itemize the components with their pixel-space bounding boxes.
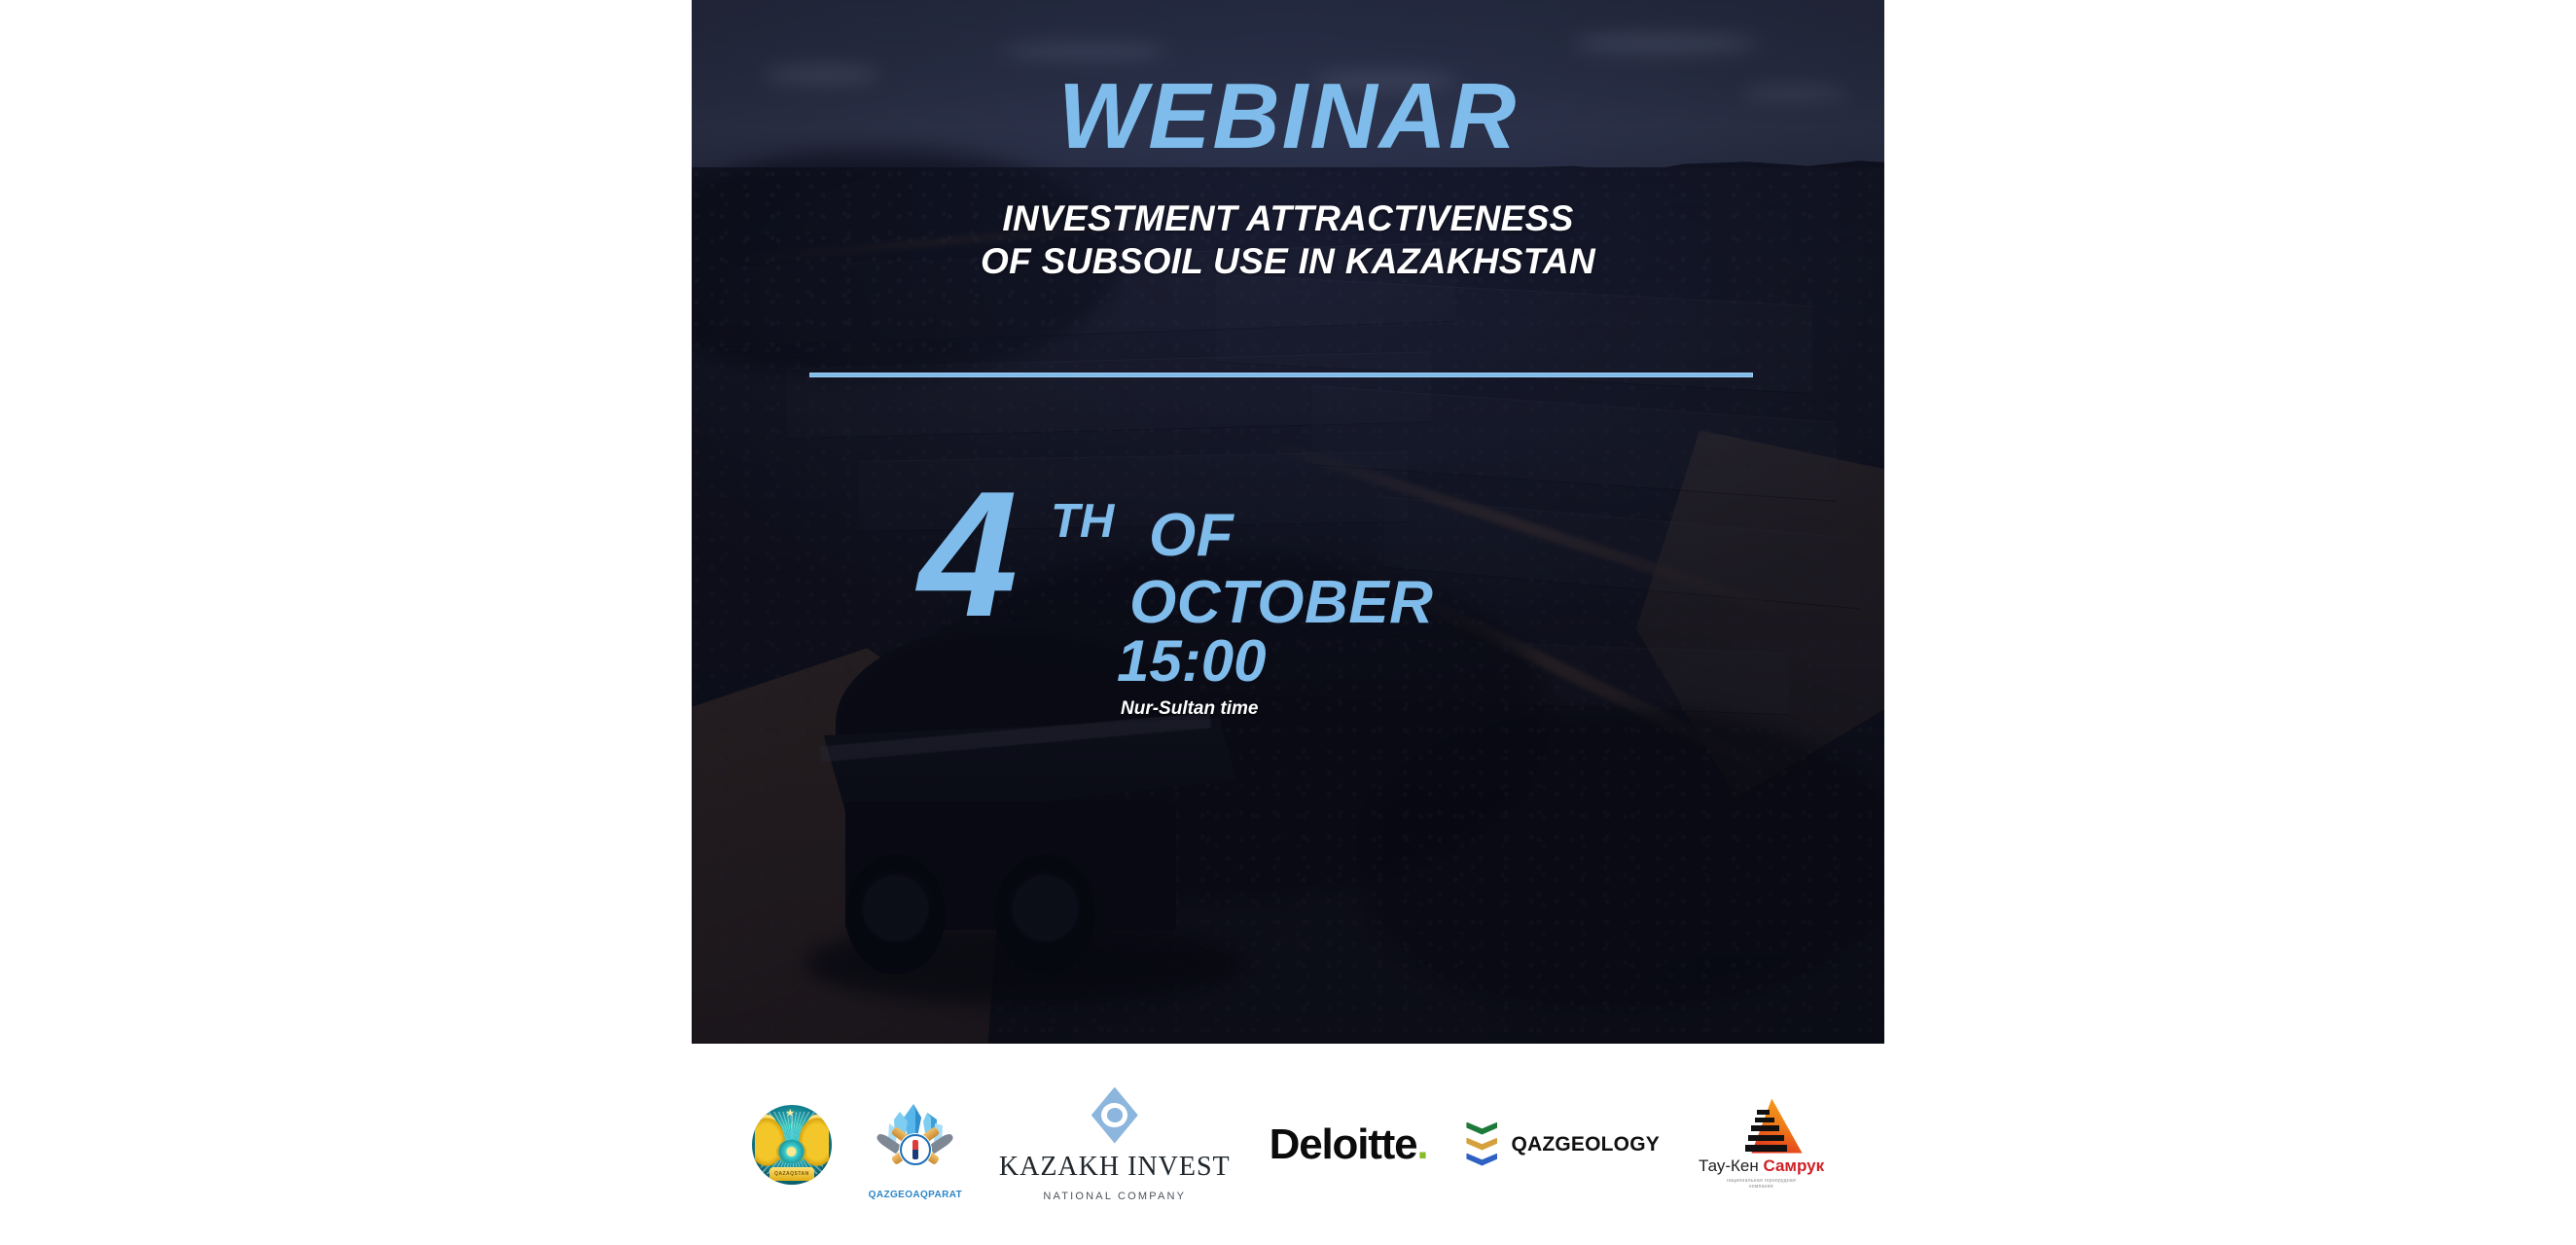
event-of-word: OF — [1129, 502, 1433, 569]
poster-date-block: 4 TH OF OCTOBER 15:00 Nur-Sultan time — [692, 484, 1884, 718]
logo-kazakh-invest: KAZAKH INVEST NATIONAL COMPANY — [999, 1087, 1231, 1202]
logo-qazgeoaqparat: QAZGEOAQPARAT — [871, 1103, 960, 1187]
qazgeology-wordmark: QAZGEOLOGY — [1511, 1133, 1660, 1156]
screenshot-canvas: WEBINAR INVESTMENT ATTRACTIVENESS OF SUB… — [0, 0, 2576, 1245]
tau-ken-samruk-wordmark: Тау-Кен Самрук — [1699, 1156, 1824, 1176]
tau-ken-samruk-mountain-icon — [1721, 1099, 1803, 1154]
tau-ken-samruk-wordmark-prefix: Тау-Кен — [1699, 1156, 1764, 1175]
emblem-banner-text: QAZAQSTAN — [769, 1167, 814, 1181]
qazgeoaqparat-label: QAZGEOAQPARAT — [869, 1190, 963, 1200]
event-month-name: OCTOBER — [1129, 569, 1433, 636]
qazgeoaqparat-icon: QAZGEOAQPARAT — [871, 1103, 960, 1187]
logo-qazgeology: QAZGEOLOGY — [1466, 1122, 1660, 1167]
logo-state-emblem-of-kazakhstan: QAZAQSTAN — [752, 1105, 832, 1185]
kazakh-invest-tagline: NATIONAL COMPANY — [1043, 1191, 1186, 1202]
poster-text-layer: WEBINAR INVESTMENT ATTRACTIVENESS OF SUB… — [692, 0, 1884, 1044]
logo-deloitte: Deloitte. — [1270, 1120, 1428, 1169]
tau-ken-samruk-tagline: национальная горнорудная компания — [1715, 1178, 1808, 1191]
webinar-poster-image: WEBINAR INVESTMENT ATTRACTIVENESS OF SUB… — [692, 0, 1884, 1044]
state-emblem-icon: QAZAQSTAN — [752, 1105, 832, 1185]
compass-icon — [900, 1134, 931, 1165]
poster-kicker: WEBINAR — [692, 70, 1884, 163]
deloitte-wordmark-text: Deloitte — [1270, 1120, 1417, 1168]
event-time: 15:00 — [1117, 632, 1266, 691]
kazakh-invest-diamond-icon — [1091, 1087, 1138, 1144]
event-timezone-note: Nur-Sultan time — [1121, 698, 1258, 720]
event-day-suffix: TH — [1051, 498, 1114, 546]
poster-title: INVESTMENT ATTRACTIVENESS OF SUBSOIL USE… — [692, 197, 1884, 282]
poster-title-line-2: OF SUBSOIL USE IN KAZAKHSTAN — [692, 240, 1884, 283]
logo-tau-ken-samruk: Тау-Кен Самрук национальная горнорудная … — [1699, 1099, 1824, 1191]
tau-ken-samruk-wordmark-accent: Самрук — [1763, 1156, 1824, 1175]
deloitte-green-dot: . — [1416, 1120, 1427, 1168]
poster-divider-rule — [809, 373, 1753, 377]
event-month-group: OF OCTOBER — [1129, 502, 1433, 637]
partner-logo-strip: QAZAQSTAN — [692, 1044, 1884, 1245]
qazgeology-chevron-icon — [1466, 1122, 1497, 1167]
kazakh-invest-wordmark: KAZAKH INVEST — [999, 1152, 1231, 1183]
deloitte-wordmark: Deloitte. — [1270, 1120, 1428, 1169]
poster-title-line-1: INVESTMENT ATTRACTIVENESS — [1002, 198, 1573, 238]
event-day-number: 4 — [918, 484, 1018, 624]
